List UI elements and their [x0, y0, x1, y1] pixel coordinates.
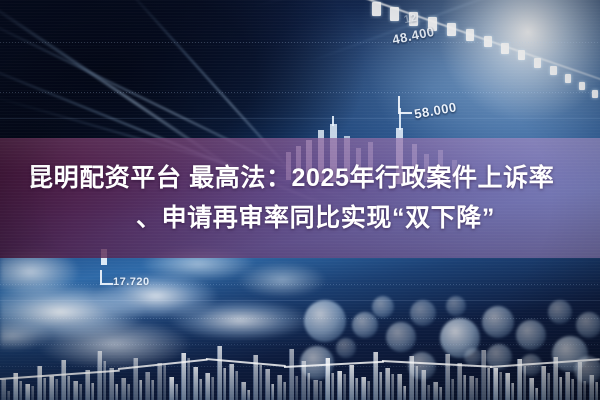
trend-line — [490, 358, 600, 367]
headline-text-block: 昆明配资平台 最高法：2025年行政案件上诉率 、申请再审率同比实现“双下降” — [0, 138, 600, 258]
trend-line — [284, 361, 384, 368]
headline-line-1: 昆明配资平台 最高法：2025年行政案件上诉率 — [0, 158, 600, 198]
trend-line — [382, 360, 492, 367]
trend-line — [0, 370, 120, 380]
trend-line — [206, 358, 286, 366]
stock-chart-news-banner: 12 48.400 58.000 17.720 — [0, 0, 600, 400]
trend-line — [118, 359, 208, 370]
headline-line-2: 、申请再审率同比实现“双下降” — [0, 198, 600, 238]
